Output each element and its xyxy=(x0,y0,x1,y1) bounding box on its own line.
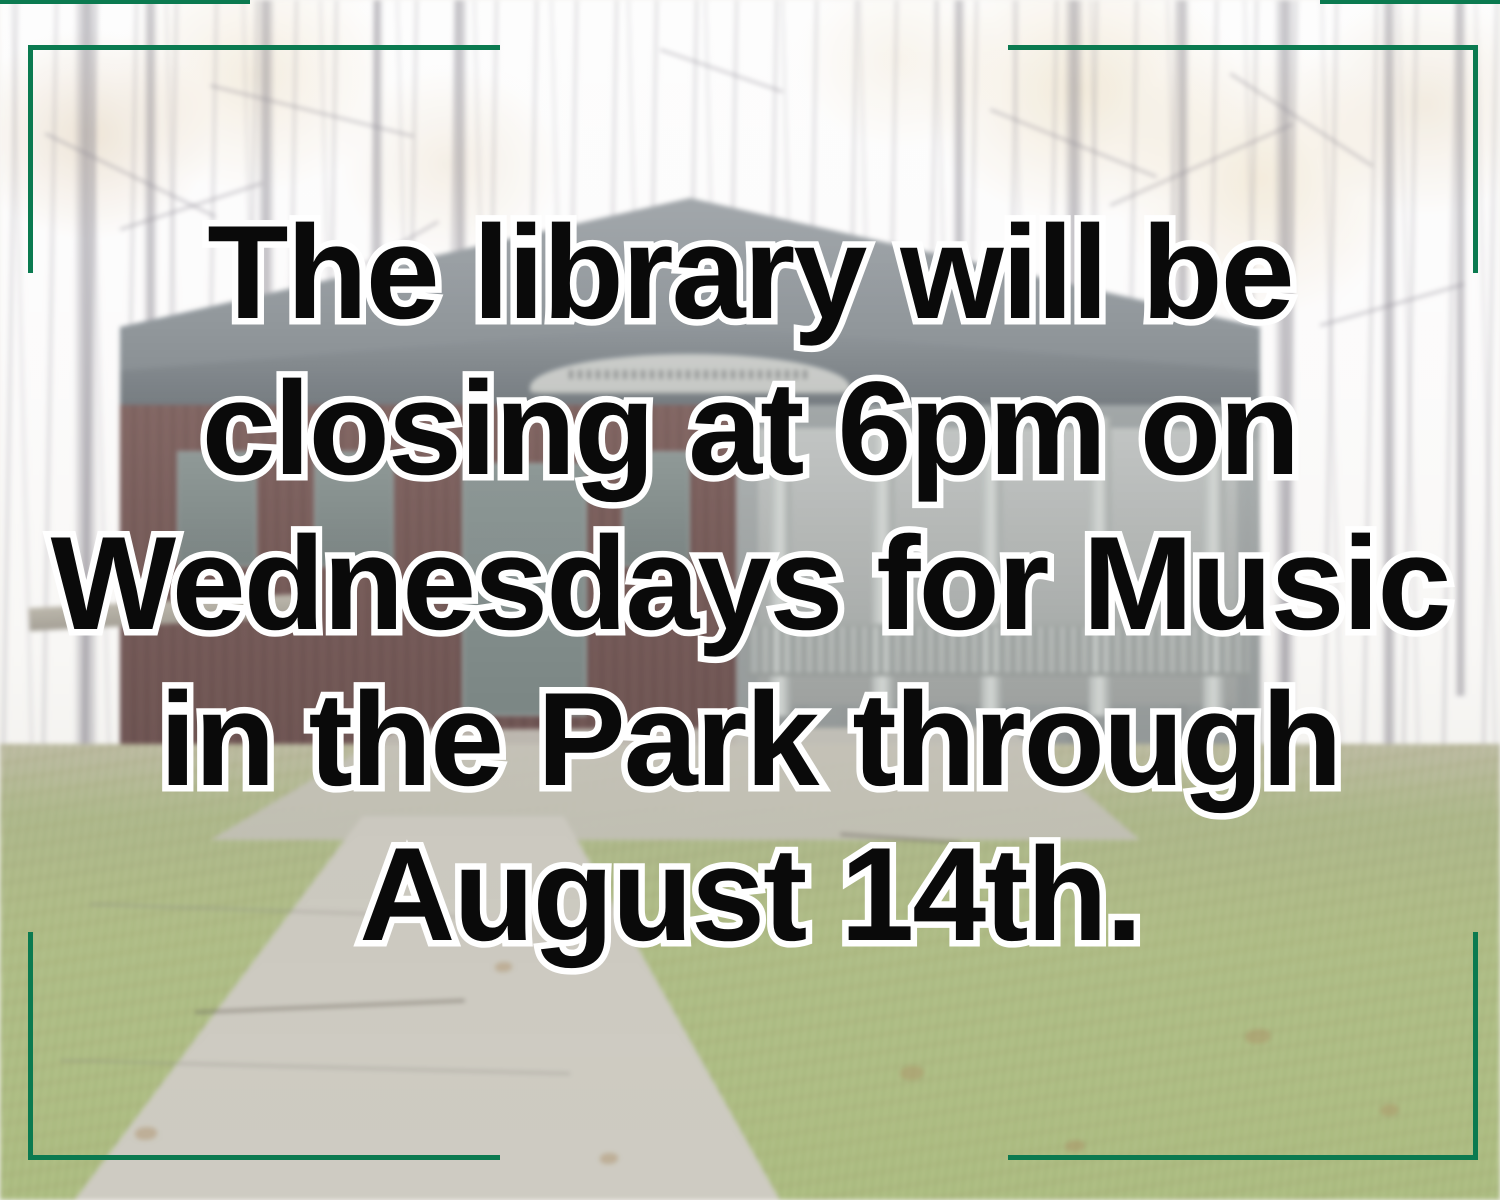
fallen-leaf xyxy=(1245,1029,1271,1044)
fallen-leaf xyxy=(1065,1140,1085,1152)
headline-block: The library will be closing at 6pm on We… xyxy=(0,196,1500,974)
top-left-bracket-horizontal xyxy=(28,45,500,50)
bottom-left-bracket-horizontal xyxy=(28,1155,500,1160)
bottom-right-bracket-horizontal xyxy=(1008,1155,1478,1160)
fallen-leaf xyxy=(135,1127,157,1140)
top-edge-rule-right xyxy=(1320,0,1500,4)
announcement-headline: The library will be closing at 6pm on We… xyxy=(6,196,1494,974)
fallen-leaf xyxy=(1380,1104,1399,1116)
fallen-leaf xyxy=(900,1066,924,1080)
fallen-leaf xyxy=(600,1153,618,1164)
top-edge-rule-left xyxy=(0,0,250,4)
top-right-bracket-horizontal xyxy=(1008,45,1478,50)
announcement-poster: The library will be closing at 6pm on We… xyxy=(0,0,1500,1200)
